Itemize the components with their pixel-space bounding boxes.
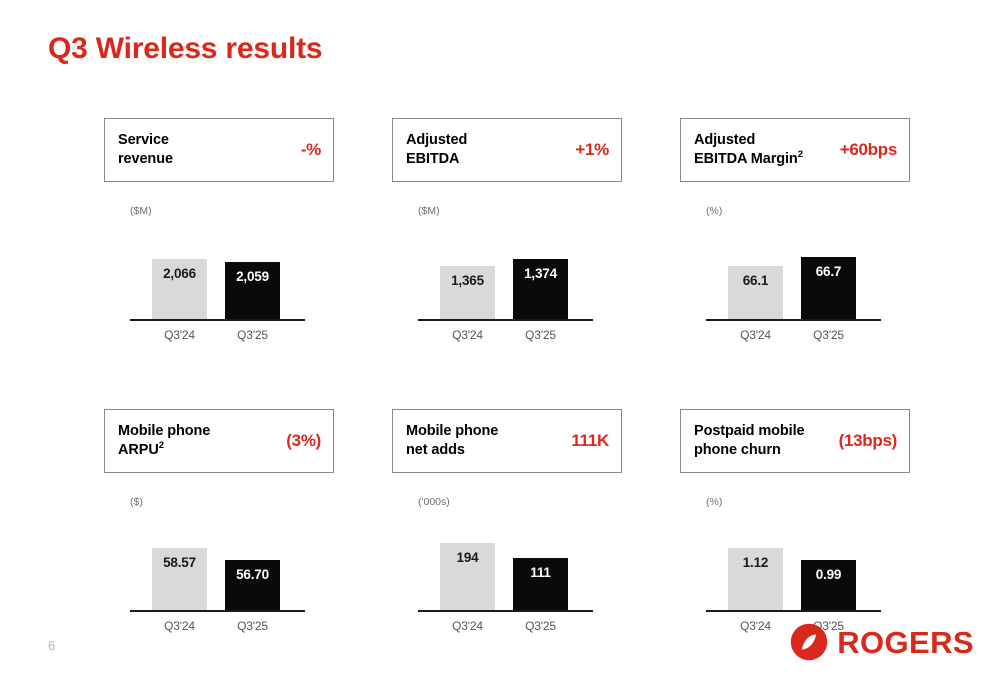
chart-axis-labels: Q3'24Q3'25: [130, 328, 305, 348]
axis-tick-label: Q3'25: [513, 619, 568, 633]
rogers-swirl-icon: [790, 623, 828, 661]
metric-label: Postpaid mobile phone churn: [694, 422, 805, 460]
chart-unit-label: (%): [706, 206, 910, 220]
chart-axis-labels: Q3'24Q3'25: [418, 619, 593, 639]
metric-delta: -%: [295, 140, 321, 160]
chart-bars: 2,0662,059: [152, 233, 280, 319]
bar-previous-period[interactable]: 194: [440, 543, 495, 610]
metric-label: Service revenue: [118, 131, 173, 169]
bar-value-label: 2,059: [236, 269, 269, 284]
bar-value-label: 56.70: [236, 567, 269, 582]
bar-previous-period[interactable]: 1,365: [440, 266, 495, 319]
chart-baseline-axis: [418, 610, 593, 612]
bar-current-period[interactable]: 56.70: [225, 560, 280, 610]
metric-delta: 111K: [565, 431, 609, 451]
metric-chart: ($)58.5756.70Q3'24Q3'25: [104, 497, 334, 632]
bar-value-label: 111: [530, 565, 550, 580]
page-number: 6: [48, 638, 55, 653]
axis-tick-label: Q3'24: [728, 328, 783, 342]
bar-value-label: 194: [457, 550, 479, 565]
bar-value-label: 66.7: [816, 264, 841, 279]
footnote-marker: 2: [159, 440, 164, 451]
axis-tick-label: Q3'24: [440, 619, 495, 633]
metric-card[interactable]: Mobile phone net adds111K: [392, 409, 622, 473]
metric-chart: (%)1.120.99Q3'24Q3'25: [680, 497, 910, 632]
bar-current-period[interactable]: 111: [513, 558, 568, 610]
chart-unit-label: ($M): [130, 206, 334, 220]
axis-tick-label: Q3'25: [225, 619, 280, 633]
metric-block: Mobile phone net adds111K('000s)194111Q3…: [392, 409, 622, 632]
bar-previous-period[interactable]: 58.57: [152, 548, 207, 610]
chart-axis-labels: Q3'24Q3'25: [418, 328, 593, 348]
metric-chart: ('000s)194111Q3'24Q3'25: [392, 497, 622, 632]
axis-tick-label: Q3'24: [152, 619, 207, 633]
metric-chart: (%)66.166.7Q3'24Q3'25: [680, 206, 910, 341]
chart-plot-area: 1,3651,374: [418, 233, 593, 319]
bar-previous-period[interactable]: 2,066: [152, 259, 207, 319]
chart-plot-area: 1.120.99: [706, 524, 881, 610]
axis-tick-label: Q3'24: [440, 328, 495, 342]
chart-baseline-axis: [130, 610, 305, 612]
bar-value-label: 58.57: [163, 555, 196, 570]
chart-axis-labels: Q3'24Q3'25: [706, 328, 881, 348]
metric-card[interactable]: Postpaid mobile phone churn(13bps): [680, 409, 910, 473]
bar-value-label: 66.1: [743, 273, 768, 288]
chart-baseline-axis: [706, 610, 881, 612]
metric-block: Mobile phone ARPU2(3%)($)58.5756.70Q3'24…: [104, 409, 334, 632]
metric-label: Adjusted EBITDA: [406, 131, 467, 169]
axis-tick-label: Q3'25: [513, 328, 568, 342]
chart-baseline-axis: [418, 319, 593, 321]
chart-baseline-axis: [130, 319, 305, 321]
chart-plot-area: 194111: [418, 524, 593, 610]
chart-bars: 1,3651,374: [440, 233, 568, 319]
chart-bars: 66.166.7: [728, 233, 856, 319]
axis-tick-label: Q3'24: [728, 619, 783, 633]
chart-plot-area: 58.5756.70: [130, 524, 305, 610]
metric-delta: +60bps: [834, 140, 897, 160]
chart-bars: 1.120.99: [728, 524, 856, 610]
bar-current-period[interactable]: 0.99: [801, 560, 856, 610]
chart-unit-label: ($M): [418, 206, 622, 220]
chart-unit-label: (%): [706, 497, 910, 511]
chart-plot-area: 2,0662,059: [130, 233, 305, 319]
bar-value-label: 1,365: [451, 273, 484, 288]
metric-card[interactable]: Adjusted EBITDA Margin2+60bps: [680, 118, 910, 182]
axis-tick-label: Q3'25: [225, 328, 280, 342]
metric-card[interactable]: Mobile phone ARPU2(3%): [104, 409, 334, 473]
bar-value-label: 2,066: [163, 266, 196, 281]
metric-block: Service revenue-%($M)2,0662,059Q3'24Q3'2…: [104, 118, 334, 341]
chart-unit-label: ($): [130, 497, 334, 511]
chart-baseline-axis: [706, 319, 881, 321]
bar-current-period[interactable]: 2,059: [225, 262, 280, 319]
metric-delta: +1%: [569, 140, 609, 160]
metric-card[interactable]: Service revenue-%: [104, 118, 334, 182]
metric-block: Postpaid mobile phone churn(13bps)(%)1.1…: [680, 409, 910, 632]
metric-label: Mobile phone ARPU2: [118, 422, 210, 460]
bar-previous-period[interactable]: 1.12: [728, 548, 783, 610]
metric-delta: (13bps): [833, 431, 897, 451]
bar-current-period[interactable]: 66.7: [801, 257, 856, 319]
axis-tick-label: Q3'25: [801, 328, 856, 342]
page-title: Q3 Wireless results: [48, 32, 322, 67]
metric-chart: ($M)1,3651,374Q3'24Q3'25: [392, 206, 622, 341]
chart-plot-area: 66.166.7: [706, 233, 881, 319]
rogers-logo: ROGERS: [790, 623, 974, 661]
axis-tick-label: Q3'24: [152, 328, 207, 342]
metric-delta: (3%): [280, 431, 321, 451]
bar-value-label: 1,374: [524, 266, 557, 281]
chart-axis-labels: Q3'24Q3'25: [130, 619, 305, 639]
metric-block: Adjusted EBITDA Margin2+60bps(%)66.166.7…: [680, 118, 910, 341]
metric-card[interactable]: Adjusted EBITDA+1%: [392, 118, 622, 182]
bar-previous-period[interactable]: 66.1: [728, 266, 783, 319]
chart-unit-label: ('000s): [418, 497, 622, 511]
metrics-grid: Service revenue-%($M)2,0662,059Q3'24Q3'2…: [104, 118, 910, 632]
rogers-wordmark: ROGERS: [837, 627, 974, 658]
metric-label: Mobile phone net adds: [406, 422, 498, 460]
bar-value-label: 1.12: [743, 555, 768, 570]
metric-block: Adjusted EBITDA+1%($M)1,3651,374Q3'24Q3'…: [392, 118, 622, 341]
chart-bars: 58.5756.70: [152, 524, 280, 610]
bar-current-period[interactable]: 1,374: [513, 259, 568, 319]
chart-bars: 194111: [440, 524, 568, 610]
footnote-marker: 2: [798, 149, 803, 160]
metric-chart: ($M)2,0662,059Q3'24Q3'25: [104, 206, 334, 341]
bar-value-label: 0.99: [816, 567, 841, 582]
metric-label: Adjusted EBITDA Margin2: [694, 131, 803, 169]
